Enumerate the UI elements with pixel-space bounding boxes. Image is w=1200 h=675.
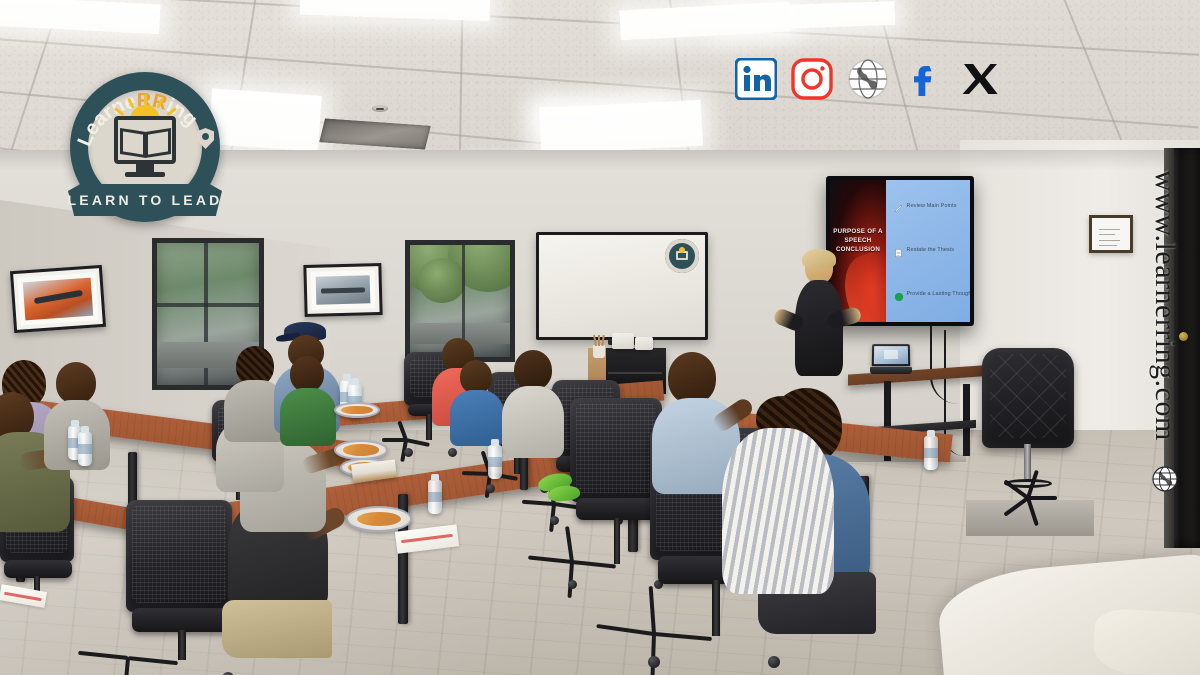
stool-quilting (990, 354, 1066, 438)
framed-helicopter-photo (10, 265, 106, 333)
globe-icon (1152, 466, 1178, 492)
water-bottle (488, 445, 502, 479)
logo-book-left-page (120, 128, 146, 158)
laptop-screen (872, 344, 910, 366)
slide-bullet-text: Review Main Points (907, 203, 957, 209)
classroom-photo: Purpose of a Speech Conclusion Review Ma… (0, 0, 1200, 675)
logo-banner: LEARN TO LEAD (62, 174, 228, 226)
pencil-icon (894, 201, 903, 211)
student-shorts (222, 600, 332, 658)
tissue-box (635, 337, 653, 350)
adult-torso (722, 428, 834, 594)
adult-attendee (722, 392, 852, 662)
student-head (514, 350, 552, 390)
student (504, 350, 570, 460)
slide-bullet-text: Provide a Lasting Thought (907, 291, 970, 297)
stool-backrest (982, 348, 1074, 448)
instagram-icon[interactable] (791, 58, 833, 100)
laptop-keyboard[interactable] (870, 367, 911, 374)
slide-bullet: Provide a Lasting Thought (894, 289, 970, 299)
logo-sun-ray (144, 94, 147, 105)
slide-bullet: Review Main Points (894, 201, 957, 211)
framed-aircraft-photo (303, 263, 382, 317)
website-url-watermark: www.learnerring.com (1148, 170, 1182, 441)
linkedin-icon[interactable] (735, 58, 777, 100)
slide-content-panel: Review Main Points Restate the Thesis (886, 180, 970, 322)
tissue-box (612, 333, 634, 349)
document-icon (894, 245, 903, 255)
helicopter-photo (23, 278, 93, 321)
aircraft-photo (316, 275, 371, 304)
framed-certificate (1089, 215, 1133, 253)
logo-book-right-page (145, 128, 171, 158)
slide-bullet-text: Restate the Thesis (907, 247, 955, 253)
whiteboard (536, 232, 708, 340)
water-bottle (428, 480, 442, 514)
globe-website-icon[interactable] (847, 58, 889, 100)
social-icon-bar (735, 58, 1001, 100)
ceiling-light-panel (539, 100, 703, 154)
facebook-icon[interactable] (903, 58, 945, 100)
whiteboard-logo-seal (665, 239, 699, 273)
student-head (460, 360, 492, 394)
stool-cylinder (1024, 444, 1031, 482)
water-bottle (924, 436, 938, 470)
x-twitter-icon[interactable] (959, 58, 1001, 100)
presenter (775, 252, 855, 402)
smoke-detector-icon (372, 105, 388, 112)
student-torso (450, 390, 504, 446)
pen-cup (593, 345, 605, 358)
water-bottle (78, 432, 92, 466)
office-chair[interactable] (126, 500, 236, 675)
student-head (290, 356, 324, 392)
certificate-text-lines (1096, 222, 1126, 246)
student (282, 356, 342, 448)
logo-tagline: LEARN TO LEAD (62, 192, 228, 208)
snack-plate (334, 402, 380, 418)
student-torso (502, 386, 564, 458)
laptop[interactable] (872, 344, 910, 374)
student-head (56, 362, 96, 404)
presenter-hair (802, 249, 836, 269)
snack-plate (346, 506, 412, 532)
green-dot-icon (894, 289, 903, 299)
snack-plate (334, 440, 388, 460)
stool-base (991, 496, 1065, 520)
drafting-stool[interactable] (982, 348, 1074, 520)
student-torso (280, 388, 336, 446)
learnerring-logo: LearneRRing LEARN TO LEAD (62, 72, 228, 232)
slide-bullet: Restate the Thesis (894, 245, 955, 255)
student-head (668, 352, 716, 404)
